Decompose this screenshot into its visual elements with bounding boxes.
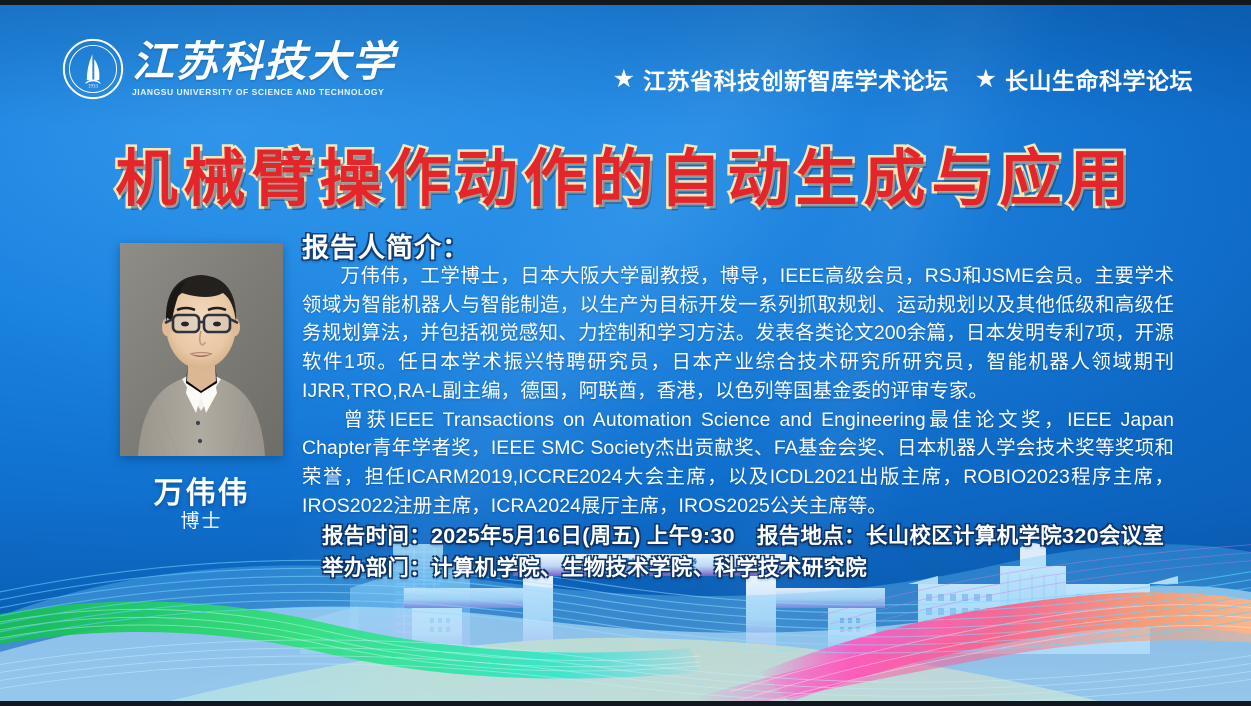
top-border-strip <box>0 0 1251 5</box>
forum-label-bar: ★ 江苏省科技创新智库学术论坛 ★ 长山生命科学论坛 <box>613 62 1193 96</box>
event-time-value: 2025年5月16日(周五) 上午9:30 <box>431 524 735 548</box>
poster-root: 江苏科技大学 <box>0 0 1251 706</box>
bio-paragraph-text: 万伟伟，工学博士，日本大阪大学副教授，博导，IEEE高级会员，RSJ和JSME会… <box>302 265 1174 402</box>
logo-name-cn: 江苏科技大学 <box>132 42 396 84</box>
star-icon: ★ <box>975 67 997 92</box>
event-place-value: 长山校区计算机学院320会议室 <box>866 524 1164 548</box>
bio-body: 万伟伟，工学博士，日本大阪大学副教授，博导，IEEE高级会员，RSJ和JSME会… <box>302 262 1174 520</box>
event-time-line: 报告时间：2025年5月16日(周五) 上午9:30报告地点：长山校区计算机学院… <box>322 519 1164 550</box>
speaker-photo <box>120 243 283 456</box>
event-place-label: 报告地点： <box>757 524 866 548</box>
forum-label-text: 江苏省科技创新智库学术论坛 <box>643 62 949 96</box>
logo-name-en: JIANGSU UNIVERSITY OF SCIENCE AND TECHNO… <box>132 88 396 97</box>
speaker-portrait-image <box>120 243 283 456</box>
bottom-border-strip <box>0 701 1251 706</box>
forum-item-think-tank: ★ 江苏省科技创新智库学术论坛 <box>613 62 949 96</box>
lecture-title: 机械臂操作动作的自动生成与应用 <box>0 128 1251 218</box>
svg-text:1933: 1933 <box>88 85 98 90</box>
speaker-degree: 博士 <box>120 506 283 533</box>
university-seal-icon: 1933 <box>62 38 124 100</box>
bio-paragraph: 万伟伟，工学博士，日本大阪大学副教授，博导，IEEE高级会员，RSJ和JSME会… <box>302 262 1174 406</box>
university-logo: 1933 江苏科技大学 JIANGSU UNIVERSITY OF SCIENC… <box>62 38 396 100</box>
forum-item-life-science: ★ 长山生命科学论坛 <box>975 62 1193 96</box>
bio-heading: 报告人简介： <box>302 226 470 265</box>
event-dept-value: 计算机学院、生物技术学院、科学技术研究院 <box>431 556 867 580</box>
event-time-label: 报告时间： <box>322 524 431 548</box>
event-dept-label: 举办部门： <box>322 556 431 580</box>
event-dept-line: 举办部门：计算机学院、生物技术学院、科学技术研究院 <box>322 551 867 582</box>
bio-paragraph-text: 曾获IEEE Transactions on Automation Scienc… <box>302 409 1174 517</box>
star-icon: ★ <box>613 67 635 92</box>
forum-label-text: 长山生命科学论坛 <box>1005 62 1193 96</box>
bio-paragraph: 曾获IEEE Transactions on Automation Scienc… <box>302 406 1174 521</box>
